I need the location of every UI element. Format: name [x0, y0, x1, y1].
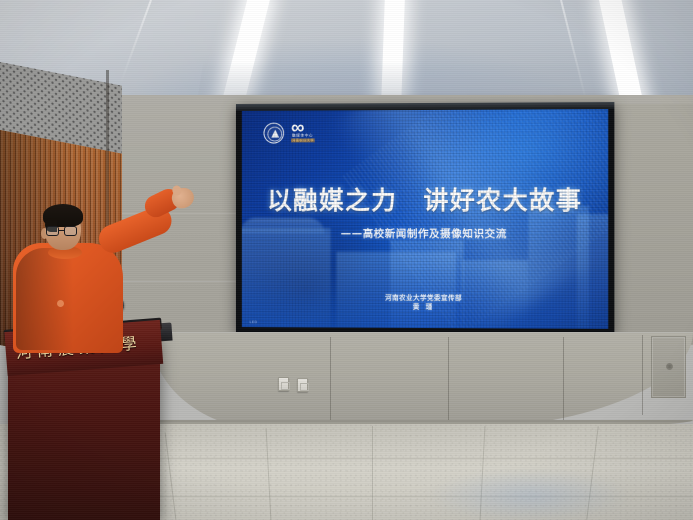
floor-tile-line [120, 458, 693, 459]
wall-outlet-plate-1[interactable] [278, 377, 289, 391]
led-display-frame[interactable]: ∞ 融媒体中心 河南农业大学 以融媒之力 讲好农大故事 ——高校新闻制作及摄像知… [236, 102, 614, 336]
wall-access-panel[interactable] [651, 336, 686, 398]
lecture-hall-scene: ∞ 融媒体中心 河南农业大学 以融媒之力 讲好农大故事 ——高校新闻制作及摄像知… [0, 0, 693, 520]
wall-outlet-plate-2[interactable] [297, 378, 308, 392]
speaker-hair [43, 204, 83, 227]
sweater-emblem [57, 300, 64, 307]
slide-title: 以融媒之力 讲好农大故事 [242, 186, 608, 216]
display-brand-label: LED [250, 320, 258, 324]
slide-presenter-name: 黄 瑾 [242, 302, 608, 313]
media-center-logo: ∞ 融媒体中心 河南农业大学 [291, 121, 325, 144]
stage-wall-seam [563, 337, 564, 421]
university-seal-icon [263, 123, 284, 144]
lens-left [46, 226, 59, 236]
floor-tile-line [266, 428, 272, 520]
floor-tile-line [165, 432, 177, 519]
media-center-label: 融媒体中心 [292, 133, 313, 137]
floor-tile-line [372, 426, 373, 520]
speaker-torso [13, 243, 123, 353]
stage-front-wall [150, 332, 693, 430]
slide-subtitle: ——高校新闻制作及摄像知识交流 [242, 227, 608, 241]
back-wall-right-section [610, 104, 693, 344]
lens-right [64, 226, 77, 236]
slide-logo-group: ∞ 融媒体中心 河南农业大学 [263, 121, 324, 144]
media-center-badge: 河南农业大学 [291, 138, 315, 142]
floor-reflection [430, 470, 630, 520]
presentation-slide[interactable]: ∞ 融媒体中心 河南农业大学 以融媒之力 讲好农大故事 ——高校新闻制作及摄像知… [242, 109, 608, 329]
stage-wall-seam [330, 337, 331, 425]
stage-wall-seam [642, 335, 643, 415]
eyeglasses-icon [46, 226, 81, 237]
stage-wall-seam [448, 337, 449, 425]
